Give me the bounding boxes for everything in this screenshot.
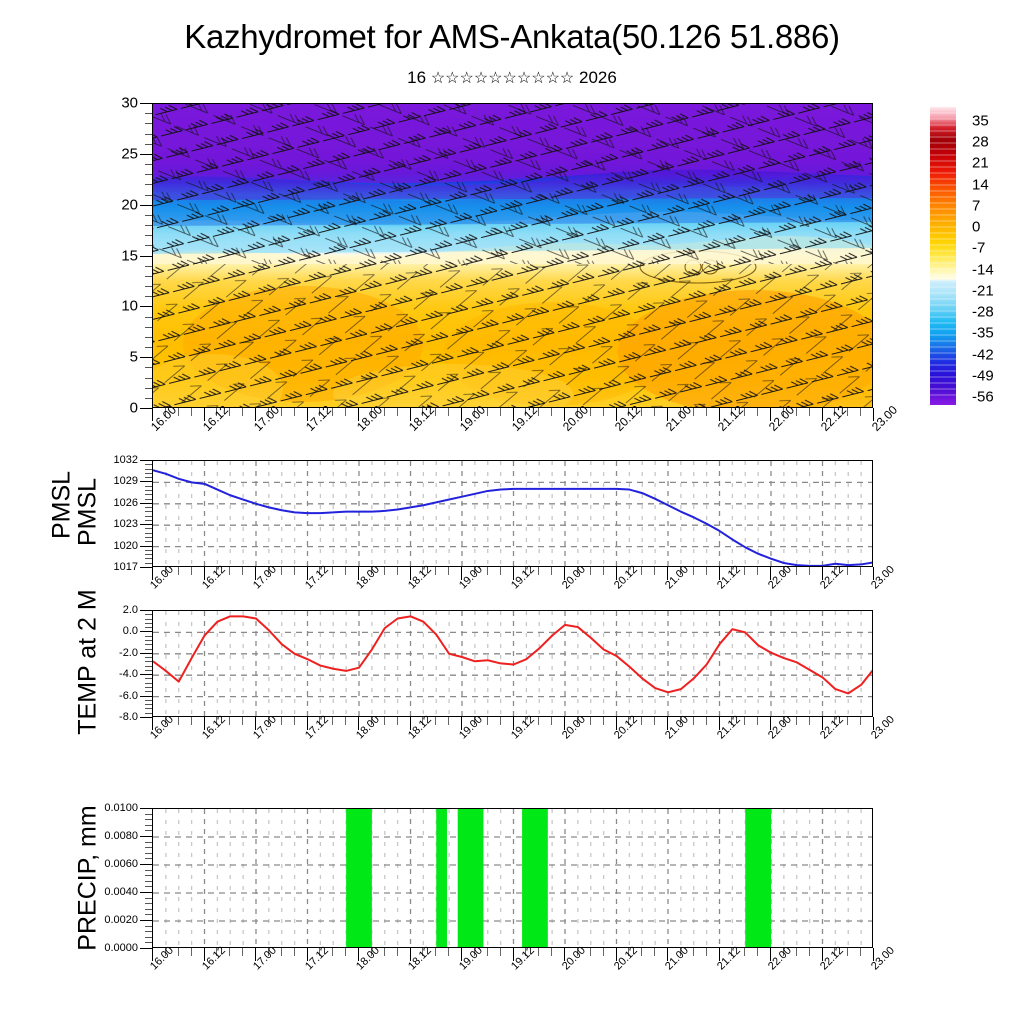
pmsl-y-minor-tick <box>145 469 152 470</box>
precip-x-minor-tick <box>860 948 861 956</box>
precip-bar[interactable] <box>458 809 484 948</box>
forecast-meteogram-page: Kazhydromet for AMS-Ankata(50.126 51.886… <box>0 0 1024 1024</box>
temp-x-minor-tick <box>487 717 488 725</box>
precip-x-minor-tick <box>603 948 604 956</box>
pmsl-y-minor-tick <box>145 486 152 487</box>
pmsl-y-tick-mark <box>140 503 152 504</box>
colorbar-tick-label: -35 <box>972 325 994 342</box>
temp-x-minor-tick <box>384 717 385 725</box>
pmsl-y-minor-tick <box>145 511 152 512</box>
precip-y-tick-mark <box>140 808 152 809</box>
pmsl-x-minor-tick <box>847 567 848 575</box>
pmsl-x-minor-tick <box>435 567 436 575</box>
pmsl-x-minor-tick <box>178 567 179 575</box>
pmsl-x-minor-tick <box>500 567 501 575</box>
temp-line-svg <box>153 611 873 717</box>
temperature-colorbar[interactable] <box>930 107 956 405</box>
cross-section-y-tick-mark <box>140 408 152 409</box>
colorbar-tick-label: -49 <box>972 367 994 384</box>
temp-y-minor-tick <box>145 670 152 671</box>
cross-section-x-minor-tick <box>294 408 295 416</box>
grid-lines <box>153 461 873 567</box>
temp-x-minor-tick <box>294 717 295 725</box>
precip-y-tick-mark <box>140 836 152 837</box>
colorbar-tick-label: 7 <box>972 197 980 214</box>
cross-section-x-minor-tick <box>500 408 501 416</box>
temp-caption: TEMP at 2 M <box>74 589 103 734</box>
cross-section-x-minor-tick <box>654 408 655 416</box>
temp-x-minor-tick <box>744 717 745 725</box>
temp-x-minor-tick <box>706 717 707 725</box>
precip-x-minor-tick <box>345 948 346 956</box>
cross-section-x-minor-tick <box>397 408 398 416</box>
colorbar-tick-label: -21 <box>972 282 994 299</box>
pmsl-caption: PMSL <box>74 478 103 546</box>
pmsl-x-minor-tick <box>448 567 449 575</box>
precip-y-tick-label: 0.0060 <box>0 858 138 870</box>
precip-y-minor-tick <box>145 931 152 932</box>
cross-section-y-tick-label: 15 <box>0 247 138 264</box>
pmsl-y-minor-tick <box>145 464 152 465</box>
cross-section-y-minor-tick <box>145 113 152 114</box>
pmsl-y-minor-tick <box>145 516 152 517</box>
pmsl-y-minor-tick <box>145 490 152 491</box>
cross-section-y-minor-tick <box>145 123 152 124</box>
precip-y-minor-tick <box>145 858 152 859</box>
temp-y-minor-tick <box>145 614 152 615</box>
cross-section-y-tick-mark <box>140 154 152 155</box>
cross-section-y-minor-tick <box>145 266 152 267</box>
temp-y-minor-tick <box>145 623 152 624</box>
precip-x-minor-tick <box>487 948 488 956</box>
temp-y-minor-tick <box>145 683 152 684</box>
cross-section-x-minor-tick <box>706 408 707 416</box>
temp-x-minor-tick <box>693 717 694 725</box>
cross-section-y-tick-label: 5 <box>0 349 138 366</box>
temp-x-minor-tick <box>191 717 192 725</box>
temp-y-minor-tick <box>145 644 152 645</box>
cross-section-y-minor-tick <box>145 388 152 389</box>
precip-y-minor-tick <box>145 870 152 871</box>
pmsl-y-tick-mark <box>140 567 152 568</box>
cross-section-y-minor-tick <box>145 225 152 226</box>
precip-y-minor-tick <box>145 926 152 927</box>
cross-section-x-minor-tick <box>809 408 810 416</box>
pmsl-y-minor-tick <box>145 537 152 538</box>
pmsl-x-minor-tick <box>693 567 694 575</box>
cross-section-x-minor-tick <box>191 408 192 416</box>
precip-x-minor-tick <box>229 948 230 956</box>
precip-x-minor-tick <box>294 948 295 956</box>
cross-section-x-minor-tick <box>551 408 552 416</box>
temp-y-minor-tick <box>145 704 152 705</box>
temp-y-tick-mark <box>140 696 152 697</box>
pmsl-y-minor-tick <box>145 494 152 495</box>
temp-y-minor-tick <box>145 708 152 709</box>
temp-y-minor-tick <box>145 678 152 679</box>
cross-section-y-minor-tick <box>145 378 152 379</box>
cross-section-y-minor-tick <box>145 347 152 348</box>
colorbar-gradient <box>930 107 956 405</box>
precip-x-minor-tick <box>744 948 745 956</box>
temp-x-minor-tick <box>860 717 861 725</box>
precip-x-minor-tick <box>242 948 243 956</box>
temp-x-minor-tick <box>538 717 539 725</box>
precip-x-minor-tick <box>847 948 848 956</box>
precip-x-minor-tick <box>397 948 398 956</box>
temp-x-minor-tick <box>500 717 501 725</box>
cross-section-y-minor-tick <box>145 144 152 145</box>
pmsl-y-minor-tick <box>145 520 152 521</box>
precip-y-minor-tick <box>145 881 152 882</box>
cross-section-y-minor-tick <box>145 327 152 328</box>
cross-section-y-minor-tick <box>145 174 152 175</box>
precip-y-tick-mark <box>140 948 152 949</box>
precip-x-minor-tick <box>654 948 655 956</box>
pmsl-y-minor-tick <box>145 563 152 564</box>
temp-x-minor-tick <box>757 717 758 725</box>
pmsl-y-tick-mark <box>140 481 152 482</box>
cross-section-y-tick-mark <box>140 205 152 206</box>
pmsl-x-minor-tick <box>796 567 797 575</box>
pmsl-x-minor-tick <box>706 567 707 575</box>
temp-x-minor-tick <box>603 717 604 725</box>
precip-x-minor-tick <box>590 948 591 956</box>
pmsl-y-minor-tick <box>145 477 152 478</box>
precip-y-tick-label: 0.0100 <box>0 802 138 814</box>
precip-x-minor-tick <box>551 948 552 956</box>
page-title: Kazhydromet for AMS-Ankata(50.126 51.886… <box>0 18 1024 56</box>
cross-section-plot-area <box>152 103 873 408</box>
pmsl-y-tick-label: 1026 <box>0 497 138 509</box>
temp-y-minor-tick <box>145 691 152 692</box>
precip-panel: 0.00000.00200.00400.00600.00800.0100 16.… <box>0 800 1024 990</box>
temp-x-minor-tick <box>397 717 398 725</box>
temp-y-tick-label: 0.0 <box>0 625 138 637</box>
cross-section-svg <box>153 104 873 408</box>
cross-section-y-tick-label: 20 <box>0 196 138 213</box>
cross-section-x-minor-tick <box>603 408 604 416</box>
temp-x-minor-tick <box>332 717 333 725</box>
pmsl-y-minor-tick <box>145 558 152 559</box>
temp-y-minor-tick <box>145 636 152 637</box>
pmsl-x-minor-tick <box>191 567 192 575</box>
subtitle-day: 16 <box>407 68 426 87</box>
precip-x-minor-tick <box>757 948 758 956</box>
temp-plot-area <box>152 610 873 717</box>
pmsl-x-minor-tick <box>281 567 282 575</box>
temp-y-tick-label: -4.0 <box>0 668 138 680</box>
colorbar-tick-label: 21 <box>972 155 989 172</box>
temp-x-minor-tick <box>590 717 591 725</box>
precip-x-minor-tick <box>281 948 282 956</box>
temp-y-minor-tick <box>145 666 152 667</box>
cross-section-x-minor-tick <box>448 408 449 416</box>
temp-x-minor-tick <box>345 717 346 725</box>
precip-y-minor-tick <box>145 842 152 843</box>
temp-y-minor-tick <box>145 700 152 701</box>
cross-section-y-tick-label: 0 <box>0 400 138 417</box>
temp-y-minor-tick <box>145 649 152 650</box>
precip-y-minor-tick <box>145 830 152 831</box>
pmsl-y-tick-mark <box>140 524 152 525</box>
pmsl-x-minor-tick <box>242 567 243 575</box>
precip-y-minor-tick <box>145 853 152 854</box>
pmsl-x-minor-tick <box>294 567 295 575</box>
pmsl-x-minor-tick <box>487 567 488 575</box>
precip-x-minor-tick <box>332 948 333 956</box>
pmsl-y-tick-label: 1020 <box>0 540 138 552</box>
precip-x-minor-tick <box>706 948 707 956</box>
precip-bar-svg <box>153 809 873 948</box>
cross-section-y-minor-tick <box>145 184 152 185</box>
pmsl-x-minor-tick <box>397 567 398 575</box>
pmsl-y-minor-tick <box>145 473 152 474</box>
temp-x-minor-tick <box>178 717 179 725</box>
temp-x-minor-tick <box>242 717 243 725</box>
cross-section-y-tick-mark <box>140 306 152 307</box>
precip-y-minor-tick <box>145 898 152 899</box>
cross-section-x-minor-tick <box>860 408 861 416</box>
vertical-cross-section-panel: 051015202530 16.0016.1217.0017.1218.0018… <box>0 95 1024 455</box>
temp-y-tick-mark <box>140 610 152 611</box>
precip-x-minor-tick <box>384 948 385 956</box>
temp-y-tick-label: -6.0 <box>0 690 138 702</box>
temp-x-minor-tick <box>796 717 797 725</box>
pmsl-plot-area <box>152 460 873 567</box>
cross-section-x-minor-tick <box>757 408 758 416</box>
precip-caption: PRECIP, mm <box>74 805 103 950</box>
pmsl-x-minor-tick <box>860 567 861 575</box>
pmsl-x-minor-tick <box>654 567 655 575</box>
pmsl-y-minor-tick <box>145 507 152 508</box>
pmsl-x-minor-tick <box>641 567 642 575</box>
page-subtitle: 16 ☆☆☆☆☆☆☆☆☆☆ 2026 <box>0 68 1024 88</box>
pmsl-line-svg <box>153 461 873 567</box>
precip-y-minor-tick <box>145 914 152 915</box>
temp-y-tick-mark <box>140 631 152 632</box>
temp-x-minor-tick <box>435 717 436 725</box>
temp-y-minor-tick <box>145 661 152 662</box>
temp-y-minor-tick <box>145 687 152 688</box>
pmsl-y-tick-label: 1017 <box>0 561 138 573</box>
pmsl-y-minor-tick <box>145 499 152 500</box>
precip-x-minor-tick <box>178 948 179 956</box>
colorbar-tick-label: -42 <box>972 346 994 363</box>
cross-section-y-minor-tick <box>145 398 152 399</box>
cross-section-y-tick-mark <box>140 256 152 257</box>
precip-y-tick-label: 0.0040 <box>0 886 138 898</box>
colorbar-tick-label: 35 <box>972 113 989 130</box>
pmsl-y-minor-tick <box>145 554 152 555</box>
pmsl-y-minor-tick <box>145 528 152 529</box>
pmsl-panel: PMSL 101710201023102610291032 16.0016.12… <box>0 452 1024 592</box>
pmsl-x-minor-tick <box>538 567 539 575</box>
cross-section-y-tick-mark <box>140 103 152 104</box>
temp-x-minor-tick <box>229 717 230 725</box>
colorbar-tick-label: -14 <box>972 261 994 278</box>
precip-y-minor-tick <box>145 942 152 943</box>
temp-y-tick-mark <box>140 674 152 675</box>
cross-section-y-minor-tick <box>145 296 152 297</box>
pmsl-y-minor-tick <box>145 533 152 534</box>
precip-y-tick-label: 0.0000 <box>0 942 138 954</box>
cross-section-y-tick-label: 10 <box>0 298 138 315</box>
precip-y-tick-mark <box>140 920 152 921</box>
precip-y-tick-label: 0.0080 <box>0 830 138 842</box>
precip-x-minor-tick <box>500 948 501 956</box>
cross-section-y-minor-tick <box>145 317 152 318</box>
pmsl-y-tick-mark <box>140 460 152 461</box>
temp-y-minor-tick <box>145 657 152 658</box>
precip-y-minor-tick <box>145 819 152 820</box>
pmsl-x-minor-tick <box>551 567 552 575</box>
temp-x-minor-tick <box>809 717 810 725</box>
temp-y-tick-label: 2.0 <box>0 604 138 616</box>
cross-section-x-minor-tick <box>345 408 346 416</box>
precip-y-tick-mark <box>140 864 152 865</box>
cross-section-y-minor-tick <box>145 337 152 338</box>
colorbar-tick-label: 28 <box>972 134 989 151</box>
pmsl-x-minor-tick <box>590 567 591 575</box>
precip-y-minor-tick <box>145 814 152 815</box>
precip-x-minor-tick <box>448 948 449 956</box>
precip-y-tick-mark <box>140 892 152 893</box>
cross-section-y-minor-tick <box>145 276 152 277</box>
pmsl-y-tick-mark <box>140 546 152 547</box>
pmsl-y-tick-label: 1029 <box>0 475 138 487</box>
temp-x-minor-tick <box>281 717 282 725</box>
pmsl-y-minor-tick <box>145 541 152 542</box>
cross-section-y-minor-tick <box>145 367 152 368</box>
pmsl-y-tick-label: 1032 <box>0 454 138 466</box>
precip-bar[interactable] <box>436 809 447 948</box>
temp-x-minor-tick <box>654 717 655 725</box>
precip-x-minor-tick <box>809 948 810 956</box>
subtitle-month-glyphs: ☆☆☆☆☆☆☆☆☆☆ <box>431 70 574 87</box>
cross-section-x-minor-tick <box>242 408 243 416</box>
temp-x-minor-tick <box>641 717 642 725</box>
temp-y-minor-tick <box>145 619 152 620</box>
precip-x-minor-tick <box>191 948 192 956</box>
temp-y-minor-tick <box>145 627 152 628</box>
precip-x-minor-tick <box>538 948 539 956</box>
pmsl-x-minor-tick <box>809 567 810 575</box>
precip-bar[interactable] <box>346 809 372 948</box>
pmsl-x-minor-tick <box>229 567 230 575</box>
precip-bar[interactable] <box>522 809 548 948</box>
pmsl-x-minor-tick <box>603 567 604 575</box>
precip-y-minor-tick <box>145 903 152 904</box>
pmsl-x-minor-tick <box>744 567 745 575</box>
cross-section-y-tick-label: 25 <box>0 145 138 162</box>
cross-section-y-minor-tick <box>145 245 152 246</box>
cross-section-y-minor-tick <box>145 215 152 216</box>
precip-y-minor-tick <box>145 886 152 887</box>
precip-y-minor-tick <box>145 937 152 938</box>
precip-x-minor-tick <box>435 948 436 956</box>
colorbar-tick-label: -28 <box>972 304 994 321</box>
pmsl-x-minor-tick <box>332 567 333 575</box>
cross-section-y-minor-tick <box>145 195 152 196</box>
pmsl-y-minor-tick <box>145 550 152 551</box>
precip-y-minor-tick <box>145 875 152 876</box>
temp-y-minor-tick <box>145 640 152 641</box>
pmsl-x-minor-tick <box>345 567 346 575</box>
temp-x-minor-tick <box>847 717 848 725</box>
colorbar-tick-label: 0 <box>972 219 980 236</box>
precip-x-minor-tick <box>641 948 642 956</box>
subtitle-year: 2026 <box>579 68 617 87</box>
precip-x-minor-tick <box>693 948 694 956</box>
cross-section-y-tick-label: 30 <box>0 95 138 112</box>
cross-section-y-tick-mark <box>140 357 152 358</box>
pmsl-x-minor-tick <box>384 567 385 575</box>
precip-y-minor-tick <box>145 825 152 826</box>
temp-x-minor-tick <box>551 717 552 725</box>
pmsl-y-tick-label: 1023 <box>0 518 138 530</box>
temp-x-minor-tick <box>448 717 449 725</box>
temp-y-tick-mark <box>140 717 152 718</box>
temp-y-tick-label: -2.0 <box>0 647 138 659</box>
temp-panel: -8.0-6.0-4.0-2.00.02.0 16.0016.1217.0017… <box>0 602 1024 752</box>
precip-plot-area <box>152 808 873 948</box>
cross-section-y-minor-tick <box>145 134 152 135</box>
colorbar-tick-label: -56 <box>972 389 994 406</box>
pmsl-x-minor-tick <box>757 567 758 575</box>
cross-section-y-minor-tick <box>145 235 152 236</box>
colorbar-tick-label: -7 <box>972 240 985 257</box>
cross-section-y-minor-tick <box>145 164 152 165</box>
precip-y-minor-tick <box>145 909 152 910</box>
temp-y-tick-label: -8.0 <box>0 711 138 723</box>
precip-x-minor-tick <box>796 948 797 956</box>
precip-y-minor-tick <box>145 847 152 848</box>
precip-bar[interactable] <box>745 809 771 948</box>
precip-y-tick-label: 0.0020 <box>0 914 138 926</box>
cross-section-y-minor-tick <box>145 286 152 287</box>
colorbar-tick-label: 14 <box>972 176 989 193</box>
temp-y-minor-tick <box>145 713 152 714</box>
temp-y-tick-mark <box>140 653 152 654</box>
